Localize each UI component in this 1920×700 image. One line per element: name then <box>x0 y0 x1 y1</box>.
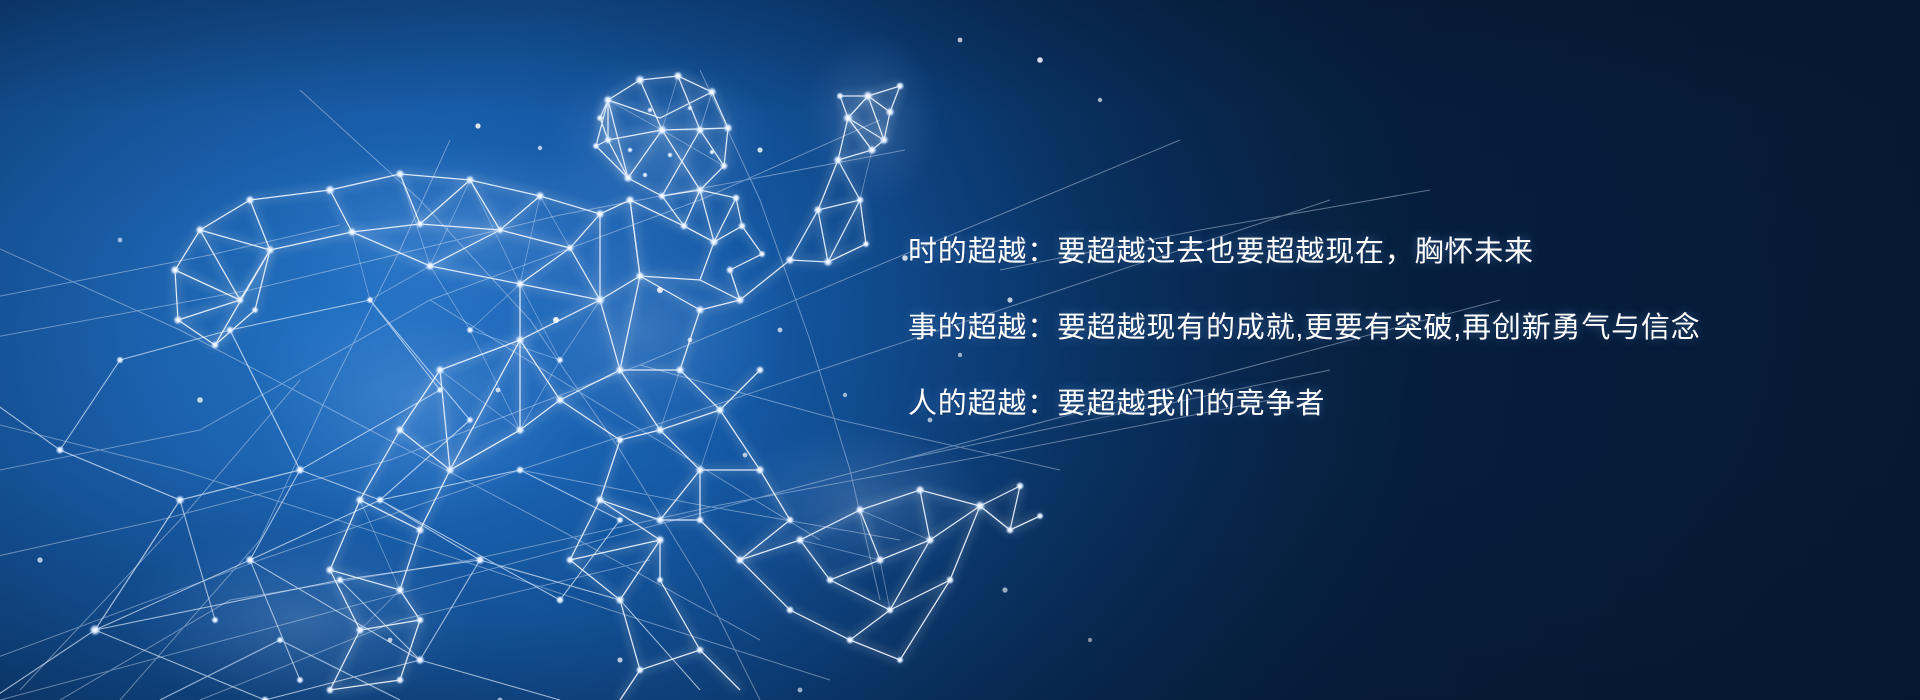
slogan-line-matter: 事的超越：要超越现有的成就,更要有突破,再创新勇气与信念 <box>908 314 1828 343</box>
slogan-line-time: 时的超越：要超越过去也要超越现在，胸怀未来 <box>908 238 1828 267</box>
slogan-line-people: 人的超越：要超越我们的竞争者 <box>908 390 1828 419</box>
hero-banner: 时的超越：要超越过去也要超越现在，胸怀未来 事的超越：要超越现有的成就,更要有突… <box>0 0 1920 700</box>
figure-glow <box>120 30 990 700</box>
slogan-text-block: 时的超越：要超越过去也要超越现在，胸怀未来 事的超越：要超越现有的成就,更要有突… <box>908 238 1828 419</box>
